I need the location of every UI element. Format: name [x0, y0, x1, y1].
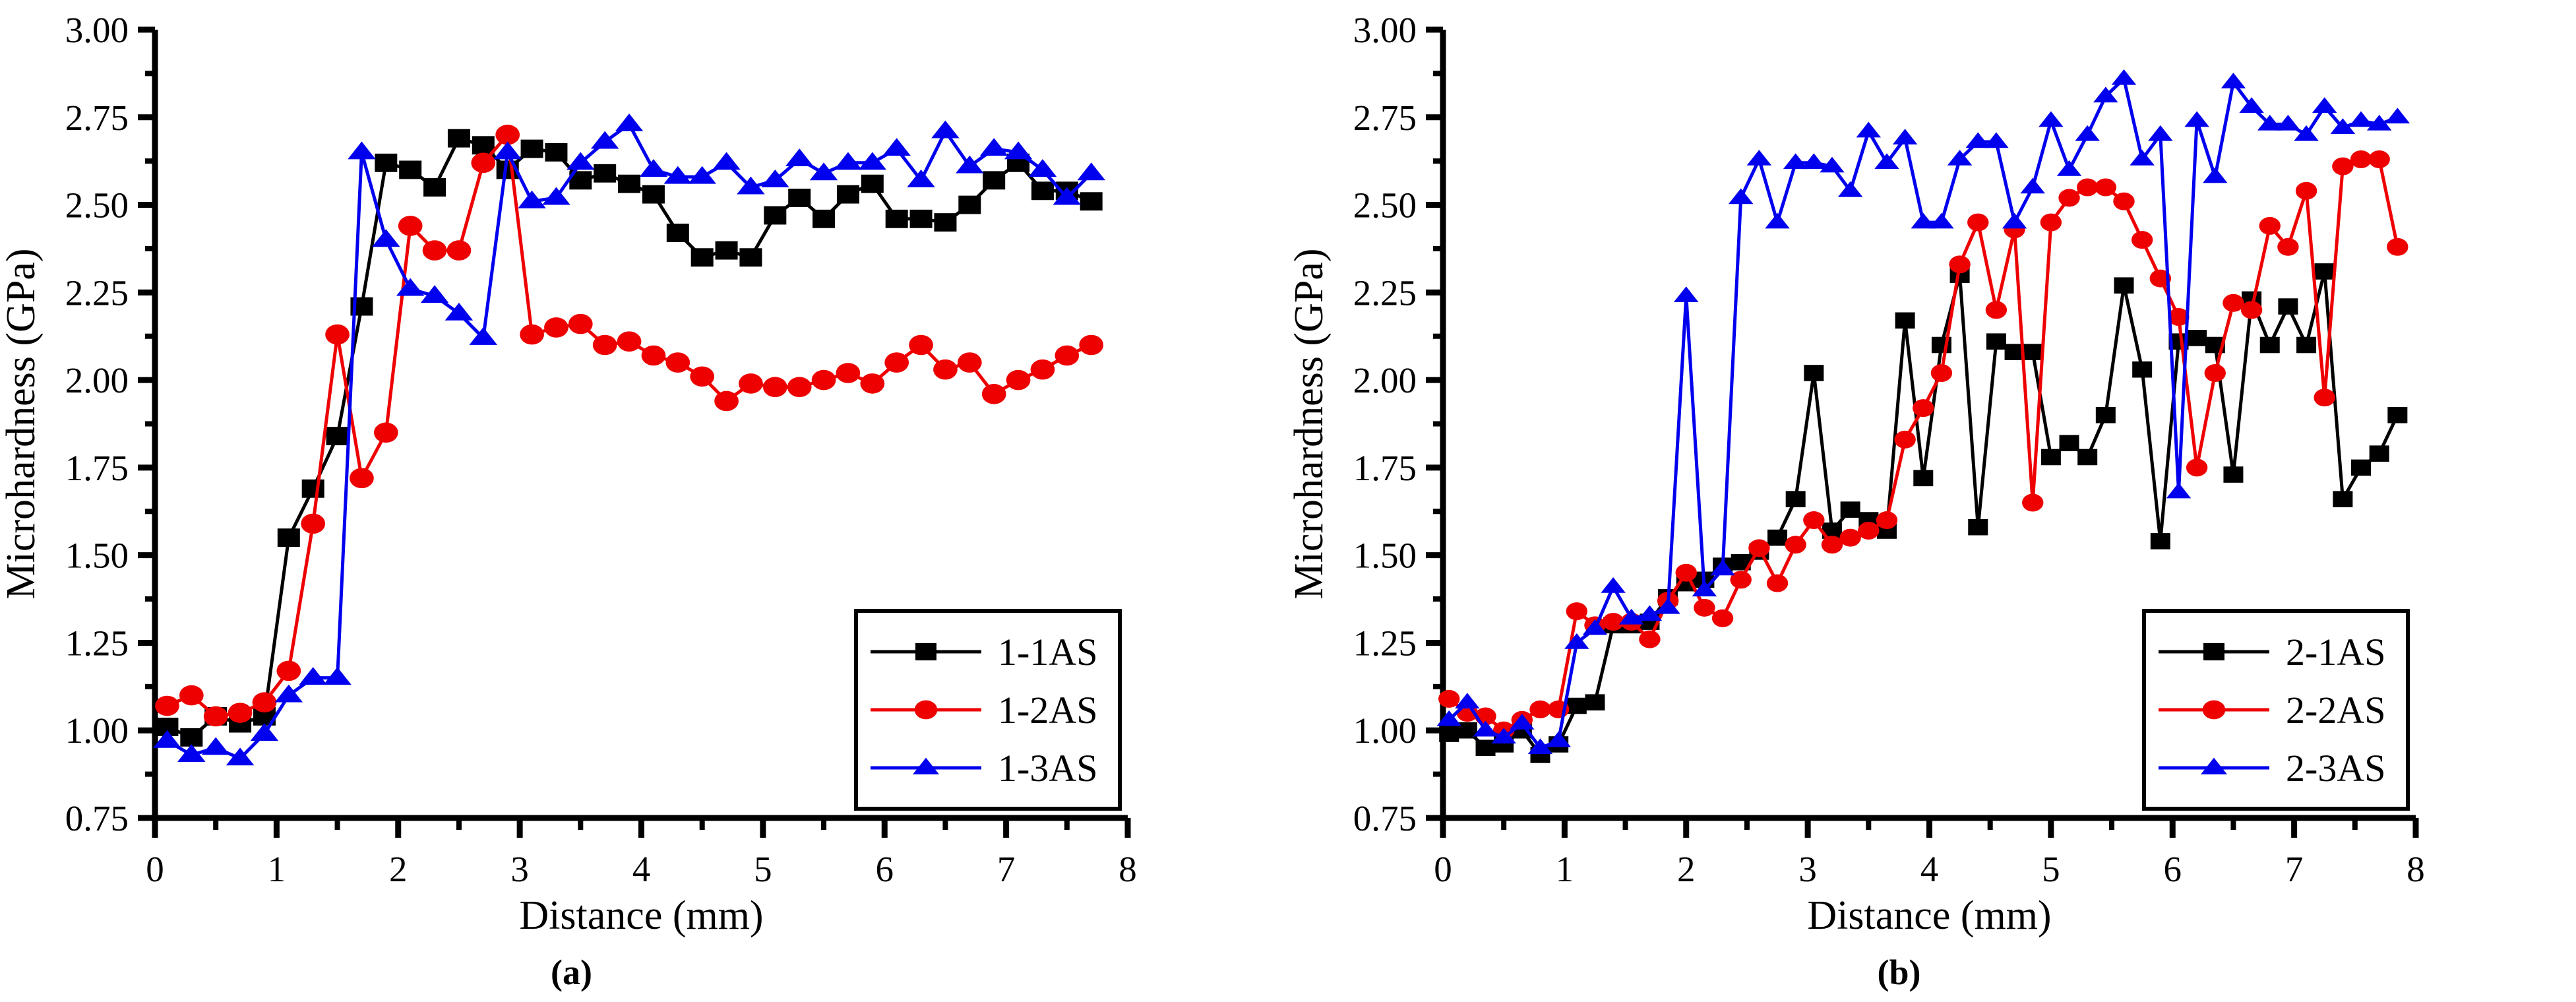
marker-square: [2278, 298, 2298, 315]
marker-square: [861, 175, 884, 193]
marker-circle: [447, 240, 472, 261]
marker-circle: [423, 240, 447, 261]
chart-panel-b: 0.751.001.251.501.752.002.252.502.753.00…: [1288, 0, 2576, 1002]
y-axis-tick-label: 1.50: [65, 536, 129, 576]
marker-circle: [2350, 150, 2372, 168]
marker-square: [2132, 361, 2152, 378]
marker-triangle: [2075, 125, 2100, 141]
marker-circle: [398, 216, 423, 236]
marker-square: [2387, 407, 2407, 423]
marker-square: [642, 185, 665, 204]
marker-triangle: [2002, 213, 2027, 229]
marker-triangle: [348, 142, 376, 160]
marker-circle: [2113, 193, 2134, 210]
x-axis-tick-label: 7: [997, 849, 1016, 889]
x-axis-title: Distance (mm): [519, 893, 763, 938]
x-axis-tick-label: 2: [389, 849, 408, 889]
marker-square: [2223, 466, 2243, 483]
marker-triangle: [810, 162, 838, 180]
marker-circle: [471, 153, 495, 173]
marker-circle: [2314, 389, 2335, 406]
marker-square: [375, 154, 397, 172]
marker-circle: [1079, 335, 1103, 356]
marker-circle: [1529, 701, 1550, 718]
marker-circle: [617, 331, 642, 352]
y-axis-tick-label: 2.75: [1353, 98, 1417, 138]
y-axis-tick-label: 3.00: [65, 10, 129, 50]
y-axis-tick-label: 2.25: [1353, 272, 1417, 313]
y-axis-tick-label: 2.75: [65, 98, 129, 138]
marker-circle: [714, 391, 739, 412]
marker-circle: [958, 352, 982, 373]
marker-circle: [1006, 370, 1031, 391]
marker-square: [1585, 694, 1605, 710]
plot-area-b: 0.751.001.251.501.752.002.252.502.753.00…: [1288, 0, 2576, 1002]
marker-circle: [2387, 238, 2408, 256]
marker-triangle: [1077, 162, 1105, 180]
marker-triangle: [907, 170, 935, 187]
marker-circle: [1967, 214, 1988, 232]
marker-triangle: [688, 166, 716, 184]
y-axis-tick-label: 1.00: [1353, 710, 1417, 751]
marker-circle: [1858, 522, 1879, 540]
marker-triangle: [372, 229, 400, 247]
marker-circle: [812, 370, 836, 391]
x-axis-tick-label: 1: [1556, 849, 1574, 889]
marker-circle: [1055, 346, 1079, 366]
legend-a: 1-1AS1-2AS1-3AS: [856, 611, 1120, 809]
marker-triangle: [882, 138, 911, 156]
marker-square: [2260, 337, 2280, 354]
marker-triangle: [2112, 69, 2137, 85]
y-axis-tick-label: 2.50: [1353, 185, 1417, 226]
marker-square: [667, 224, 689, 242]
marker-circle: [350, 468, 374, 489]
marker-triangle: [542, 187, 570, 205]
marker-square: [691, 248, 714, 266]
marker-square: [2370, 445, 2389, 462]
marker-circle: [2205, 364, 2226, 382]
marker-triangle: [323, 667, 352, 685]
marker-square: [958, 196, 981, 214]
marker-triangle: [859, 152, 887, 170]
marker-circle: [1639, 631, 1660, 648]
marker-circle: [2368, 150, 2389, 168]
marker-circle: [1438, 690, 1459, 708]
y-axis-title: Microhardness (GPa): [0, 248, 44, 599]
marker-circle: [1566, 602, 1587, 620]
legend-label-2-1as: 2-1AS: [2286, 631, 2385, 673]
marker-square: [837, 185, 859, 204]
y-axis-title: Microhardness (GPa): [1288, 248, 1332, 599]
y-axis-tick-label: 0.75: [1353, 798, 1417, 838]
legend-label-2-3as: 2-3AS: [2286, 747, 2385, 790]
marker-square: [521, 140, 543, 158]
marker-square: [1439, 726, 1459, 742]
marker-square: [594, 164, 616, 183]
y-axis-tick-label: 1.75: [1353, 448, 1417, 488]
marker-triangle: [640, 159, 668, 177]
marker-circle: [933, 360, 958, 380]
marker-triangle: [2148, 125, 2173, 141]
marker-square: [1031, 181, 1054, 200]
marker-triangle: [1601, 577, 1626, 593]
marker-circle: [155, 696, 179, 716]
marker-circle: [1986, 301, 2007, 319]
marker-circle: [1839, 529, 1860, 547]
marker-triangle: [2276, 115, 2301, 131]
marker-circle: [228, 703, 253, 723]
marker-triangle: [1838, 181, 1863, 197]
legend-label-1-1as: 1-1AS: [998, 631, 1097, 673]
marker-triangle: [2130, 150, 2155, 166]
marker-circle: [1894, 431, 1915, 449]
marker-circle: [1712, 610, 1733, 627]
marker-square: [2077, 449, 2097, 466]
marker-circle: [1949, 255, 1970, 273]
marker-triangle: [2221, 73, 2246, 88]
marker-square: [2041, 449, 2061, 466]
marker-circle: [787, 377, 812, 397]
marker-square: [545, 143, 567, 162]
x-axis-tick-label: 6: [2164, 849, 2182, 889]
marker-triangle: [2239, 97, 2264, 113]
marker-circle: [739, 373, 763, 394]
y-axis-tick-label: 2.00: [65, 360, 129, 400]
marker-square: [764, 206, 786, 225]
legend-label-1-2as: 1-2AS: [998, 689, 1097, 732]
marker-square: [1767, 530, 1787, 546]
marker-triangle: [1747, 150, 1772, 166]
y-axis-tick-label: 3.00: [1353, 10, 1417, 50]
marker-circle: [2332, 158, 2353, 175]
x-axis-tick-label: 2: [1677, 849, 1696, 889]
marker-square: [1913, 470, 1933, 487]
marker-circle: [568, 314, 593, 334]
marker-square: [1841, 501, 1860, 518]
marker-circle: [593, 335, 617, 356]
marker-square: [618, 175, 640, 193]
marker-triangle: [396, 278, 425, 296]
marker-square: [448, 129, 470, 148]
chart-panel-a: 0.751.001.251.501.752.002.252.502.753.00…: [0, 0, 1288, 1002]
marker-triangle: [1765, 213, 1790, 229]
legend-b: 2-1AS2-2AS2-3AS: [2144, 611, 2408, 809]
marker-circle: [2223, 294, 2244, 312]
marker-square: [739, 248, 762, 266]
marker-square: [2151, 533, 2170, 549]
marker-circle: [884, 352, 909, 373]
marker-circle: [301, 514, 325, 534]
marker-triangle: [1674, 286, 1699, 302]
x-axis-title: Distance (mm): [1807, 893, 2051, 938]
marker-triangle: [2203, 168, 2228, 183]
y-axis-tick-label: 2.25: [65, 272, 129, 313]
marker-circle: [982, 384, 1006, 404]
marker-circle: [325, 325, 350, 345]
marker-square: [1567, 698, 1587, 714]
marker-circle: [2277, 238, 2298, 256]
x-axis-tick-label: 4: [632, 849, 651, 889]
marker-circle: [2040, 214, 2062, 232]
marker-circle: [909, 335, 933, 356]
marker-triangle: [2020, 178, 2045, 194]
marker-triangle: [712, 152, 741, 170]
x-axis-tick-label: 0: [146, 849, 164, 889]
y-axis-tick-label: 1.25: [65, 623, 129, 663]
legend-marker-circle: [2203, 701, 2226, 720]
marker-square: [934, 213, 956, 232]
marker-circle: [1913, 399, 1934, 417]
marker-square: [2333, 491, 2352, 507]
marker-triangle: [2312, 97, 2337, 113]
marker-circle: [2077, 179, 2098, 197]
marker-triangle: [834, 152, 863, 170]
x-axis-tick-label: 3: [1798, 849, 1817, 889]
marker-triangle: [1802, 153, 1827, 169]
marker-circle: [2296, 182, 2317, 200]
x-axis-tick-label: 8: [2407, 849, 2425, 889]
marker-square: [2060, 435, 2079, 451]
y-axis-tick-label: 1.50: [1353, 536, 1417, 576]
marker-circle: [1748, 540, 1769, 557]
x-axis-tick-label: 4: [1920, 849, 1939, 889]
marker-square: [2351, 460, 2371, 476]
marker-circle: [763, 377, 787, 397]
legend-marker-square: [915, 643, 936, 660]
marker-triangle: [1893, 129, 1918, 144]
x-axis-tick-label: 1: [268, 849, 286, 889]
marker-triangle: [2039, 111, 2064, 127]
plot-area-a: 0.751.001.251.501.752.002.252.502.753.00…: [0, 0, 1288, 1002]
x-axis-tick-label: 5: [754, 849, 772, 889]
marker-square: [788, 189, 811, 207]
marker-circle: [253, 692, 277, 712]
marker-square: [326, 427, 349, 445]
marker-circle: [665, 352, 690, 373]
marker-circle: [1803, 511, 1824, 529]
y-axis-tick-label: 0.75: [65, 798, 129, 838]
marker-circle: [276, 661, 301, 681]
y-axis-tick-label: 1.75: [65, 448, 129, 488]
marker-circle: [1603, 613, 1624, 631]
marker-circle: [860, 373, 884, 394]
marker-circle: [1031, 360, 1055, 380]
marker-triangle: [251, 723, 279, 741]
y-axis-tick-label: 1.00: [65, 710, 129, 751]
marker-circle: [2058, 189, 2079, 206]
marker-square: [1804, 365, 1824, 381]
marker-triangle: [1729, 189, 1754, 204]
marker-triangle: [1874, 153, 1899, 169]
marker-circle: [204, 706, 228, 727]
marker-square: [813, 210, 835, 228]
marker-triangle: [785, 148, 814, 166]
marker-circle: [1767, 575, 1788, 592]
marker-square: [1968, 519, 1988, 536]
marker-triangle: [931, 121, 960, 139]
y-axis-tick-label: 2.50: [65, 185, 129, 226]
marker-triangle: [2057, 160, 2082, 176]
marker-square: [1986, 333, 2006, 350]
marker-circle: [2022, 494, 2043, 512]
marker-circle: [544, 317, 568, 338]
marker-square: [2315, 263, 2335, 280]
marker-square: [1786, 491, 1806, 507]
marker-circle: [1822, 536, 1843, 553]
marker-circle: [179, 685, 204, 706]
marker-circle: [1785, 536, 1806, 553]
marker-triangle: [615, 113, 644, 131]
x-axis-tick-label: 7: [2285, 849, 2304, 889]
legend-label-1-3as: 1-3AS: [998, 747, 1097, 790]
marker-triangle: [2385, 108, 2410, 123]
marker-triangle: [1984, 133, 2009, 148]
x-axis-tick-label: 0: [1434, 849, 1452, 889]
x-axis-tick-label: 6: [876, 849, 894, 889]
marker-triangle: [2348, 111, 2374, 127]
marker-square: [2296, 337, 2316, 354]
figure-root: 0.751.001.251.501.752.002.252.502.753.00…: [0, 0, 2576, 1002]
marker-square: [2114, 277, 2134, 294]
marker-circle: [1931, 364, 1952, 382]
marker-circle: [1876, 511, 1897, 529]
marker-square: [2187, 330, 2207, 346]
panel-caption-a: (a): [0, 955, 1215, 990]
marker-triangle: [202, 737, 230, 755]
legend-marker-circle: [915, 701, 938, 720]
marker-circle: [2095, 179, 2116, 197]
x-axis-tick-label: 8: [1119, 849, 1137, 889]
marker-square: [886, 210, 908, 228]
marker-circle: [836, 363, 861, 383]
marker-square: [1895, 313, 1915, 329]
x-axis-tick-label: 5: [2042, 849, 2060, 889]
marker-circle: [2259, 217, 2281, 235]
marker-triangle: [2166, 483, 2192, 499]
marker-square: [910, 210, 933, 228]
marker-square: [399, 161, 421, 179]
x-axis-tick-label: 3: [510, 849, 529, 889]
marker-triangle: [980, 138, 1008, 156]
marker-circle: [520, 325, 544, 345]
marker-triangle: [2184, 111, 2209, 127]
marker-circle: [642, 346, 666, 366]
marker-circle: [690, 367, 714, 387]
legend-marker-square: [2203, 643, 2224, 660]
marker-square: [278, 528, 300, 547]
marker-square: [180, 728, 202, 747]
marker-square: [716, 241, 738, 260]
marker-triangle: [1856, 122, 1882, 138]
marker-circle: [374, 422, 398, 443]
y-axis-tick-label: 1.25: [1353, 623, 1417, 663]
marker-square: [2096, 407, 2116, 423]
marker-circle: [2241, 301, 2262, 319]
marker-square: [2023, 344, 2042, 360]
marker-square: [423, 178, 446, 197]
marker-triangle: [299, 667, 327, 685]
y-axis-tick-label: 2.00: [1353, 360, 1417, 400]
marker-square: [983, 171, 1005, 189]
marker-square: [1080, 192, 1103, 210]
panel-caption-b: (b): [1255, 955, 2543, 990]
marker-circle: [2131, 231, 2153, 249]
legend-label-2-2as: 2-2AS: [2286, 689, 2385, 732]
marker-square: [302, 480, 324, 498]
marker-circle: [1676, 564, 1697, 582]
marker-triangle: [1929, 213, 1954, 229]
marker-circle: [1694, 599, 1715, 617]
marker-circle: [2186, 458, 2207, 476]
